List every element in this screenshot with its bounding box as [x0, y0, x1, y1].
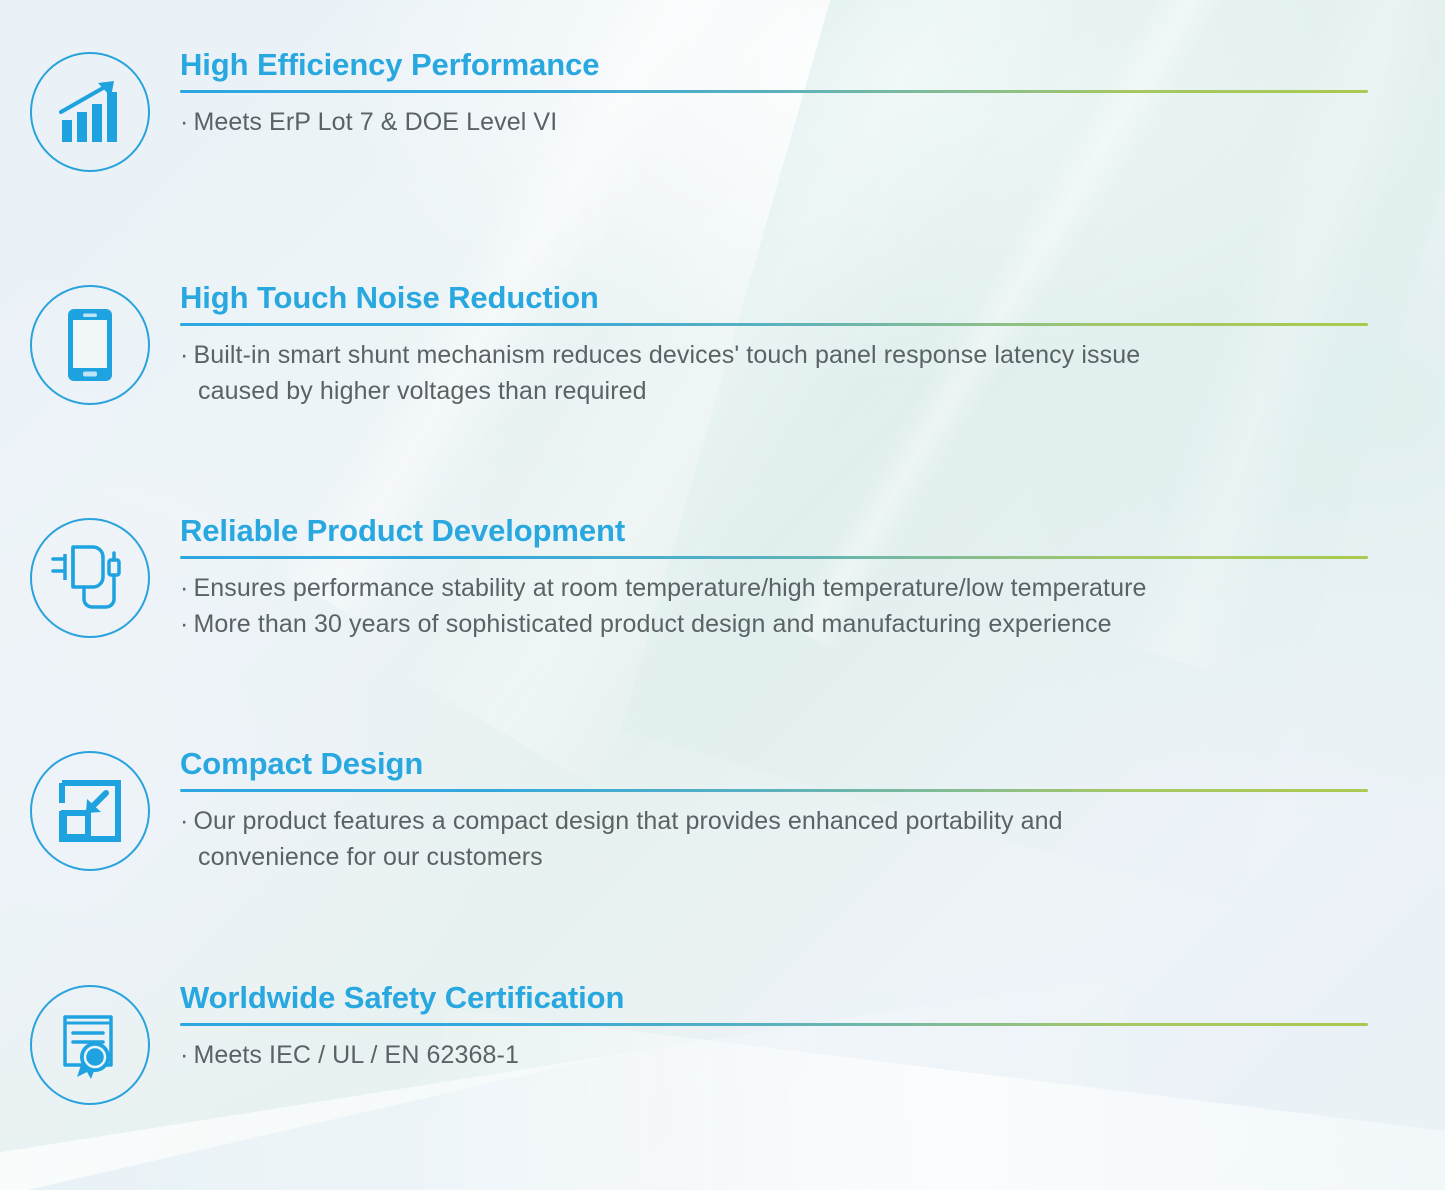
bullet-line: ·Meets ErP Lot 7 & DOE Level VI — [180, 105, 1368, 141]
bullet-text: Ensures performance stability at room te… — [193, 574, 1146, 602]
bullet-line: ·Our product features a compact design t… — [180, 804, 1368, 875]
feature-divider — [180, 1023, 1368, 1026]
feature-bullets: ·Our product features a compact design t… — [180, 804, 1368, 875]
feature-bullets: ·Meets ErP Lot 7 & DOE Level VI — [180, 105, 1368, 141]
feature-title: High Efficiency Performance — [180, 48, 1368, 81]
bullet-line: ·Meets IEC / UL / EN 62368-1 — [180, 1038, 1368, 1074]
feature-icon-slot — [0, 514, 180, 638]
feature-divider — [180, 789, 1368, 792]
bullet-text: Meets IEC / UL / EN 62368-1 — [193, 1041, 519, 1069]
feature-body: Worldwide Safety Certification ·Meets IE… — [180, 981, 1445, 1074]
feature-bullets: ·Built-in smart shunt mechanism reduces … — [180, 338, 1368, 409]
bullet-line: ·Built-in smart shunt mechanism reduces … — [180, 338, 1368, 409]
feature-item-high-touch-noise-reduction: High Touch Noise Reduction ·Built-in sma… — [0, 281, 1445, 409]
bullet-text-continued: caused by higher voltages than required — [180, 374, 1368, 410]
bullet-text: More than 30 years of sophisticated prod… — [193, 610, 1111, 638]
feature-divider — [180, 556, 1368, 559]
feature-divider — [180, 323, 1368, 326]
feature-item-reliable-product-development: Reliable Product Development ·Ensures pe… — [0, 514, 1445, 642]
bullet-line: ·Ensures performance stability at room t… — [180, 571, 1368, 607]
bullet-text: Our product features a compact design th… — [193, 807, 1062, 835]
feature-item-worldwide-safety-certification: Worldwide Safety Certification ·Meets IE… — [0, 981, 1445, 1105]
feature-divider — [180, 90, 1368, 93]
feature-body: High Touch Noise Reduction ·Built-in sma… — [180, 281, 1445, 409]
feature-icon-slot — [0, 48, 180, 172]
feature-title: High Touch Noise Reduction — [180, 281, 1368, 314]
feature-body: Compact Design ·Our product features a c… — [180, 747, 1445, 875]
bar-chart-growth-icon — [54, 78, 126, 146]
bullet-line: ·More than 30 years of sophisticated pro… — [180, 607, 1368, 643]
feature-body: High Efficiency Performance ·Meets ErP L… — [180, 48, 1445, 141]
smartphone-icon — [66, 307, 114, 383]
feature-body: Reliable Product Development ·Ensures pe… — [180, 514, 1445, 642]
feature-icon-slot — [0, 281, 180, 405]
icon-circle-frame — [30, 985, 150, 1105]
bullet-dot: · — [180, 341, 188, 369]
icon-circle-frame — [30, 751, 150, 871]
feature-icon-slot — [0, 981, 180, 1105]
feature-item-high-efficiency-performance: High Efficiency Performance ·Meets ErP L… — [0, 48, 1445, 172]
icon-circle-frame — [30, 285, 150, 405]
bullet-dot: · — [180, 610, 188, 638]
bullet-dot: · — [180, 807, 188, 835]
feature-title: Worldwide Safety Certification — [180, 981, 1368, 1014]
bullet-text-continued: convenience for our customers — [180, 840, 1368, 876]
bullet-dot: · — [180, 1041, 188, 1069]
feature-item-compact-design: Compact Design ·Our product features a c… — [0, 747, 1445, 875]
feature-title: Compact Design — [180, 747, 1368, 780]
feature-bullets: ·Meets IEC / UL / EN 62368-1 — [180, 1038, 1368, 1074]
bullet-text: Meets ErP Lot 7 & DOE Level VI — [193, 108, 557, 136]
feature-bullets: ·Ensures performance stability at room t… — [180, 571, 1368, 642]
power-adapter-icon — [49, 541, 131, 615]
bullet-dot: · — [180, 108, 188, 136]
feature-title: Reliable Product Development — [180, 514, 1368, 547]
feature-highlights-page: High Efficiency Performance ·Meets ErP L… — [0, 0, 1445, 1190]
bullet-dot: · — [180, 574, 188, 602]
icon-circle-frame — [30, 52, 150, 172]
compact-resize-icon — [56, 777, 124, 845]
bullet-text: Built-in smart shunt mechanism reduces d… — [193, 341, 1140, 369]
certificate-seal-icon — [57, 1009, 123, 1081]
icon-circle-frame — [30, 518, 150, 638]
feature-icon-slot — [0, 747, 180, 871]
